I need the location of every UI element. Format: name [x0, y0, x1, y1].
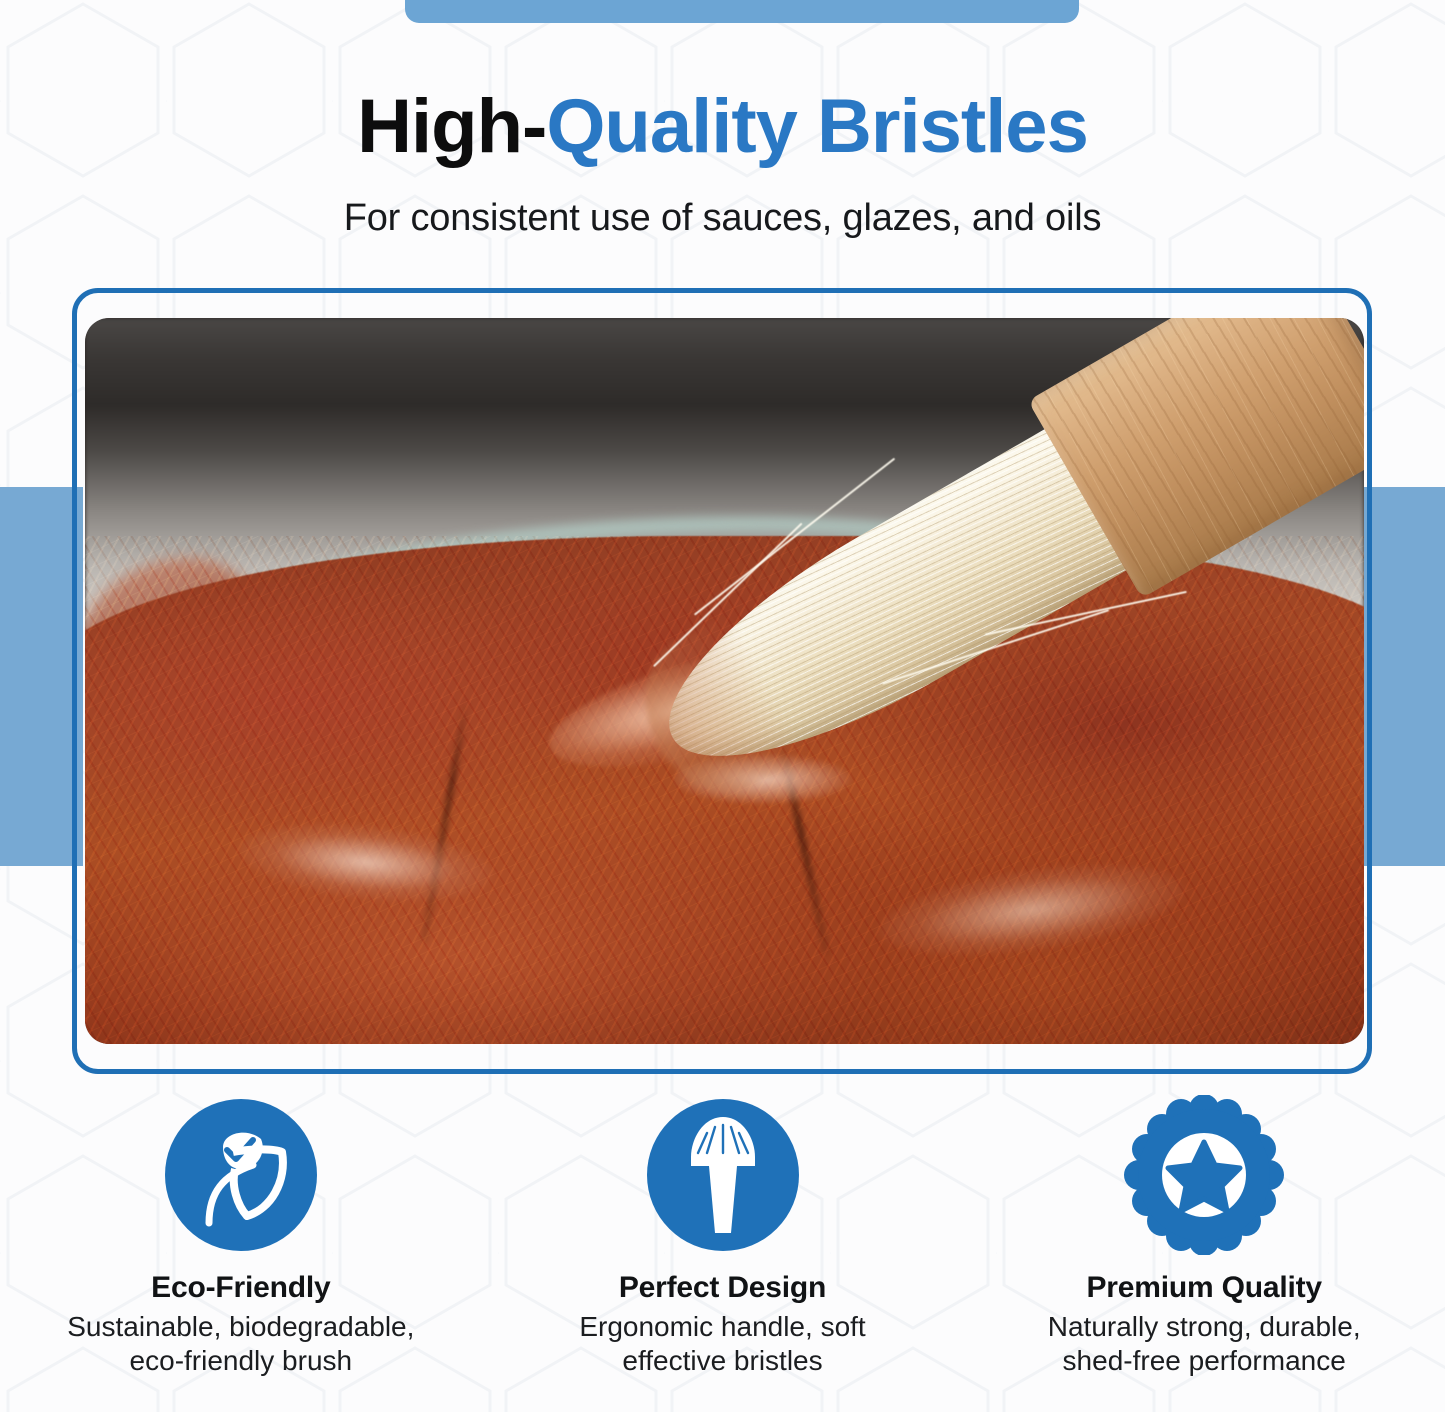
- feature-description: Ergonomic handle, soft effective bristle…: [579, 1310, 865, 1378]
- feature-desc-line-2: eco-friendly brush: [67, 1344, 414, 1378]
- top-accent-tab: [405, 0, 1079, 23]
- feature-desc-line-1: Sustainable, biodegradable,: [67, 1311, 414, 1342]
- feature-title: Perfect Design: [619, 1271, 826, 1305]
- feature-perfect-design: Perfect Design Ergonomic handle, soft ef…: [482, 1095, 964, 1378]
- feature-description: Sustainable, biodegradable, eco-friendly…: [67, 1310, 414, 1378]
- feature-desc-line-1: Naturally strong, durable,: [1048, 1311, 1361, 1342]
- badge-star-icon: [1124, 1095, 1284, 1255]
- feature-desc-line-1: Ergonomic handle, soft: [579, 1311, 865, 1342]
- page-title-blue-part: Quality Bristles: [546, 84, 1088, 169]
- page-title-dark-part: High-: [357, 84, 546, 169]
- hero-photo-scene: [85, 318, 1364, 1044]
- infographic-page: High-Quality Bristles For consistent use…: [0, 0, 1445, 1412]
- feature-desc-line-2: effective bristles: [579, 1344, 865, 1378]
- feature-title: Eco-Friendly: [151, 1271, 330, 1305]
- brush-icon: [643, 1095, 803, 1255]
- feature-title: Premium Quality: [1086, 1271, 1321, 1305]
- feature-premium-quality: Premium Quality Naturally strong, durabl…: [963, 1095, 1445, 1378]
- feature-eco-friendly: Eco-Friendly Sustainable, biodegradable,…: [0, 1095, 482, 1378]
- feature-desc-line-2: shed-free performance: [1048, 1344, 1361, 1378]
- left-accent-band: [0, 487, 83, 866]
- leaf-check-icon: [161, 1095, 321, 1255]
- page-title: High-Quality Bristles: [0, 88, 1445, 166]
- feature-row: Eco-Friendly Sustainable, biodegradable,…: [0, 1095, 1445, 1378]
- headline-block: High-Quality Bristles: [0, 88, 1445, 166]
- hero-photo: [85, 318, 1364, 1044]
- feature-description: Naturally strong, durable, shed-free per…: [1048, 1310, 1361, 1378]
- page-subtitle: For consistent use of sauces, glazes, an…: [0, 197, 1445, 240]
